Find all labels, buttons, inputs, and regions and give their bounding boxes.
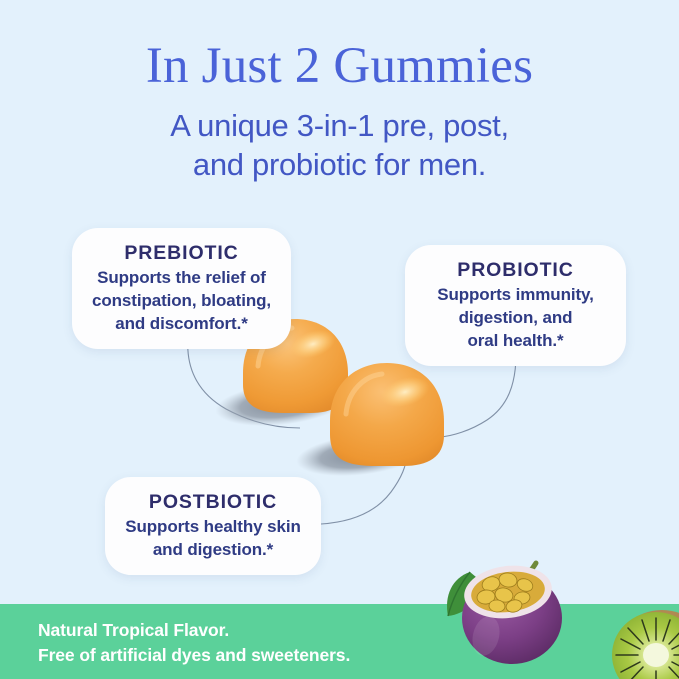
callout-body-prebiotic: Supports the relief of constipation, blo…	[86, 266, 277, 335]
gummy-shadow-right	[294, 428, 425, 481]
callout-postbiotic-line-2: and digestion.*	[119, 538, 307, 561]
connector-probiotic	[440, 354, 516, 437]
connector-postbiotic	[321, 455, 407, 524]
callout-card-prebiotic[interactable]: PREBIOTIC Supports the relief of constip…	[72, 228, 291, 349]
gummy-right	[330, 363, 444, 466]
callout-card-probiotic[interactable]: PROBIOTIC Supports immunity, digestion, …	[405, 245, 626, 366]
callout-probiotic-line-3: oral health.*	[419, 329, 612, 352]
callout-prebiotic-line-1: Supports the relief of	[86, 266, 277, 289]
callout-body-postbiotic: Supports healthy skin and digestion.*	[119, 515, 307, 561]
callout-body-probiotic: Supports immunity, digestion, and oral h…	[419, 283, 612, 352]
page-subtitle: A unique 3-in-1 pre, post, and probiotic…	[0, 106, 679, 184]
callout-probiotic-line-1: Supports immunity,	[419, 283, 612, 306]
connector-prebiotic	[188, 338, 300, 428]
callout-card-postbiotic[interactable]: POSTBIOTIC Supports healthy skin and dig…	[105, 477, 321, 575]
subtitle-line-2: and probiotic for men.	[0, 145, 679, 184]
footer-line-2: Free of artificial dyes and sweeteners.	[38, 643, 350, 668]
callout-postbiotic-line-1: Supports healthy skin	[119, 515, 307, 538]
footer-line-1: Natural Tropical Flavor.	[38, 618, 350, 643]
callout-prebiotic-line-3: and discomfort.*	[86, 312, 277, 335]
callout-title-probiotic: PROBIOTIC	[419, 257, 612, 283]
gummy-shadow-left	[213, 376, 349, 432]
footer-text: Natural Tropical Flavor. Free of artific…	[38, 618, 350, 668]
callout-prebiotic-line-2: constipation, bloating,	[86, 289, 277, 312]
product-infographic: In Just 2 Gummies A unique 3-in-1 pre, p…	[0, 0, 679, 679]
page-title: In Just 2 Gummies	[0, 36, 679, 96]
callout-probiotic-line-2: digestion, and	[419, 306, 612, 329]
callout-title-prebiotic: PREBIOTIC	[86, 240, 277, 266]
subtitle-line-1: A unique 3-in-1 pre, post,	[0, 106, 679, 145]
callout-title-postbiotic: POSTBIOTIC	[119, 489, 307, 515]
